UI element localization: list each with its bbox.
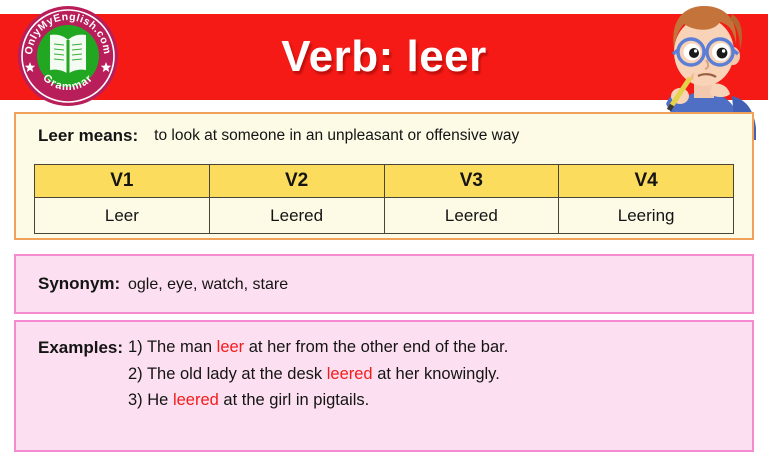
- example-highlight-word: leered: [173, 391, 219, 409]
- open-book-icon: [50, 35, 86, 74]
- synonym-label: Synonym:: [16, 274, 128, 294]
- meaning-row: Leer means: to look at someone in an unp…: [16, 114, 752, 158]
- synonym-body: ogle, eye, watch, stare: [128, 274, 752, 294]
- example-item: 3) He leered at the girl in pigtails.: [128, 387, 752, 414]
- example-text-before: The man: [143, 338, 217, 356]
- verb-form-v4: Leering: [559, 198, 734, 234]
- meaning-and-forms-box: Leer means: to look at someone in an unp…: [14, 112, 754, 240]
- meaning-text: to look at someone in an unpleasant or o…: [154, 127, 519, 145]
- synonym-panel: Synonym: ogle, eye, watch, stare: [14, 254, 754, 314]
- examples-list: 1) The man leer at her from the other en…: [128, 322, 752, 414]
- example-text-after: at the girl in pigtails.: [219, 391, 369, 409]
- example-highlight-word: leered: [327, 365, 373, 383]
- examples-label: Examples:: [16, 322, 128, 358]
- verb-form-v3: Leered: [384, 198, 559, 234]
- synonym-text: ogle, eye, watch, stare: [128, 276, 288, 293]
- example-text-after: at her from the other end of the bar.: [244, 338, 508, 356]
- column-header-v4: V4: [559, 165, 734, 198]
- verb-form-v2: Leered: [209, 198, 384, 234]
- meaning-label: Leer means:: [38, 126, 138, 146]
- column-header-v1: V1: [35, 165, 210, 198]
- example-text-before: He: [143, 391, 173, 409]
- verb-forms-table: V1 V2 V3 V4 Leer Leered Leered Leering: [34, 164, 734, 234]
- example-number: 1): [128, 338, 143, 356]
- example-text-after: at her knowingly.: [373, 365, 500, 383]
- example-highlight-word: leer: [217, 338, 245, 356]
- site-logo: OnlyMyEnglish.com Grammar: [16, 4, 120, 108]
- example-number: 3): [128, 391, 143, 409]
- column-header-v2: V2: [209, 165, 384, 198]
- example-text-before: The old lady at the desk: [143, 365, 327, 383]
- verb-form-v1: Leer: [35, 198, 210, 234]
- example-number: 2): [128, 365, 143, 383]
- examples-body: 1) The man leer at her from the other en…: [128, 322, 752, 414]
- table-row: Leer Leered Leered Leering: [35, 198, 734, 234]
- column-header-v3: V3: [384, 165, 559, 198]
- examples-panel: Examples: 1) The man leer at her from th…: [14, 320, 754, 452]
- example-item: 2) The old lady at the desk leered at he…: [128, 361, 752, 388]
- table-header-row: V1 V2 V3 V4: [35, 165, 734, 198]
- example-item: 1) The man leer at her from the other en…: [128, 334, 752, 361]
